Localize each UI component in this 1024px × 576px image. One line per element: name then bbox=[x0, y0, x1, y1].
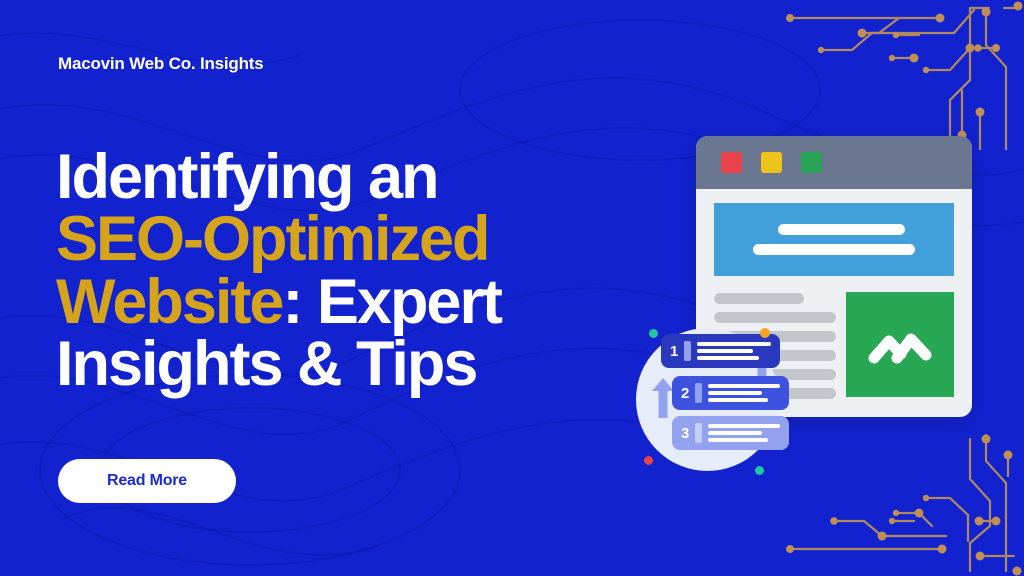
rank-line bbox=[708, 438, 768, 442]
rank-accent-bar bbox=[695, 383, 702, 403]
headline-line-3: Website: Expert bbox=[56, 271, 696, 333]
browser-titlebar bbox=[696, 136, 972, 189]
rank-line bbox=[708, 398, 768, 402]
rank-line bbox=[708, 384, 780, 388]
brand-name: Macovin Web Co. Insights bbox=[58, 54, 264, 74]
rank-text-lines bbox=[708, 384, 780, 402]
orange-dot-icon bbox=[760, 328, 770, 338]
headline-seg-4: Insights & Tips bbox=[56, 329, 476, 399]
text-line bbox=[714, 293, 804, 304]
rank-number: 3 bbox=[681, 426, 689, 441]
page-title: Identifying an SEO-Optimized Website: Ex… bbox=[56, 146, 696, 395]
window-maximize-icon[interactable] bbox=[801, 152, 822, 173]
red-dot-bottom-left-icon bbox=[644, 456, 653, 465]
rank-text-lines bbox=[708, 424, 780, 442]
image-placeholder bbox=[846, 292, 954, 397]
rank-accent-bar bbox=[684, 341, 691, 361]
rank-line bbox=[708, 391, 762, 395]
headline-line-1: Identifying an bbox=[56, 146, 696, 208]
promo-banner: Macovin Web Co. Insights Identifying an … bbox=[0, 0, 1024, 576]
ranking-card-2[interactable]: 2 bbox=[672, 376, 789, 410]
read-more-button[interactable]: Read More bbox=[58, 459, 236, 503]
hero-bar-1 bbox=[778, 224, 905, 235]
seo-illustration: 1 2 3 bbox=[636, 126, 1008, 456]
rank-accent-bar bbox=[695, 423, 702, 443]
rank-number: 1 bbox=[670, 344, 678, 359]
headline-line-2: SEO-Optimized bbox=[56, 208, 696, 270]
text-line bbox=[714, 312, 836, 323]
headline-seg-2: SEO-Optimized bbox=[56, 204, 489, 274]
ranking-card-3[interactable]: 3 bbox=[672, 416, 789, 450]
rank-line bbox=[697, 342, 771, 346]
ranking-card-1[interactable]: 1 bbox=[661, 334, 780, 368]
hero-bar-2 bbox=[753, 244, 915, 255]
rank-number: 2 bbox=[681, 386, 689, 401]
rank-line bbox=[708, 431, 762, 435]
window-close-icon[interactable] bbox=[721, 152, 742, 173]
headline-seg-3a: Website bbox=[56, 267, 282, 337]
teal-dot-top-icon bbox=[649, 329, 658, 338]
hero-banner-placeholder bbox=[714, 203, 954, 276]
headline-seg-1: Identifying an bbox=[56, 142, 438, 212]
rank-line bbox=[697, 349, 753, 353]
headline-seg-3b: : Expert bbox=[282, 267, 501, 337]
window-minimize-icon[interactable] bbox=[761, 152, 782, 173]
rank-text-lines bbox=[697, 342, 771, 360]
teal-dot-bottom-right-icon bbox=[755, 466, 764, 475]
rank-line bbox=[697, 356, 759, 360]
rank-line bbox=[708, 424, 780, 428]
mountain-icon bbox=[867, 320, 933, 370]
headline-line-4: Insights & Tips bbox=[56, 333, 696, 395]
